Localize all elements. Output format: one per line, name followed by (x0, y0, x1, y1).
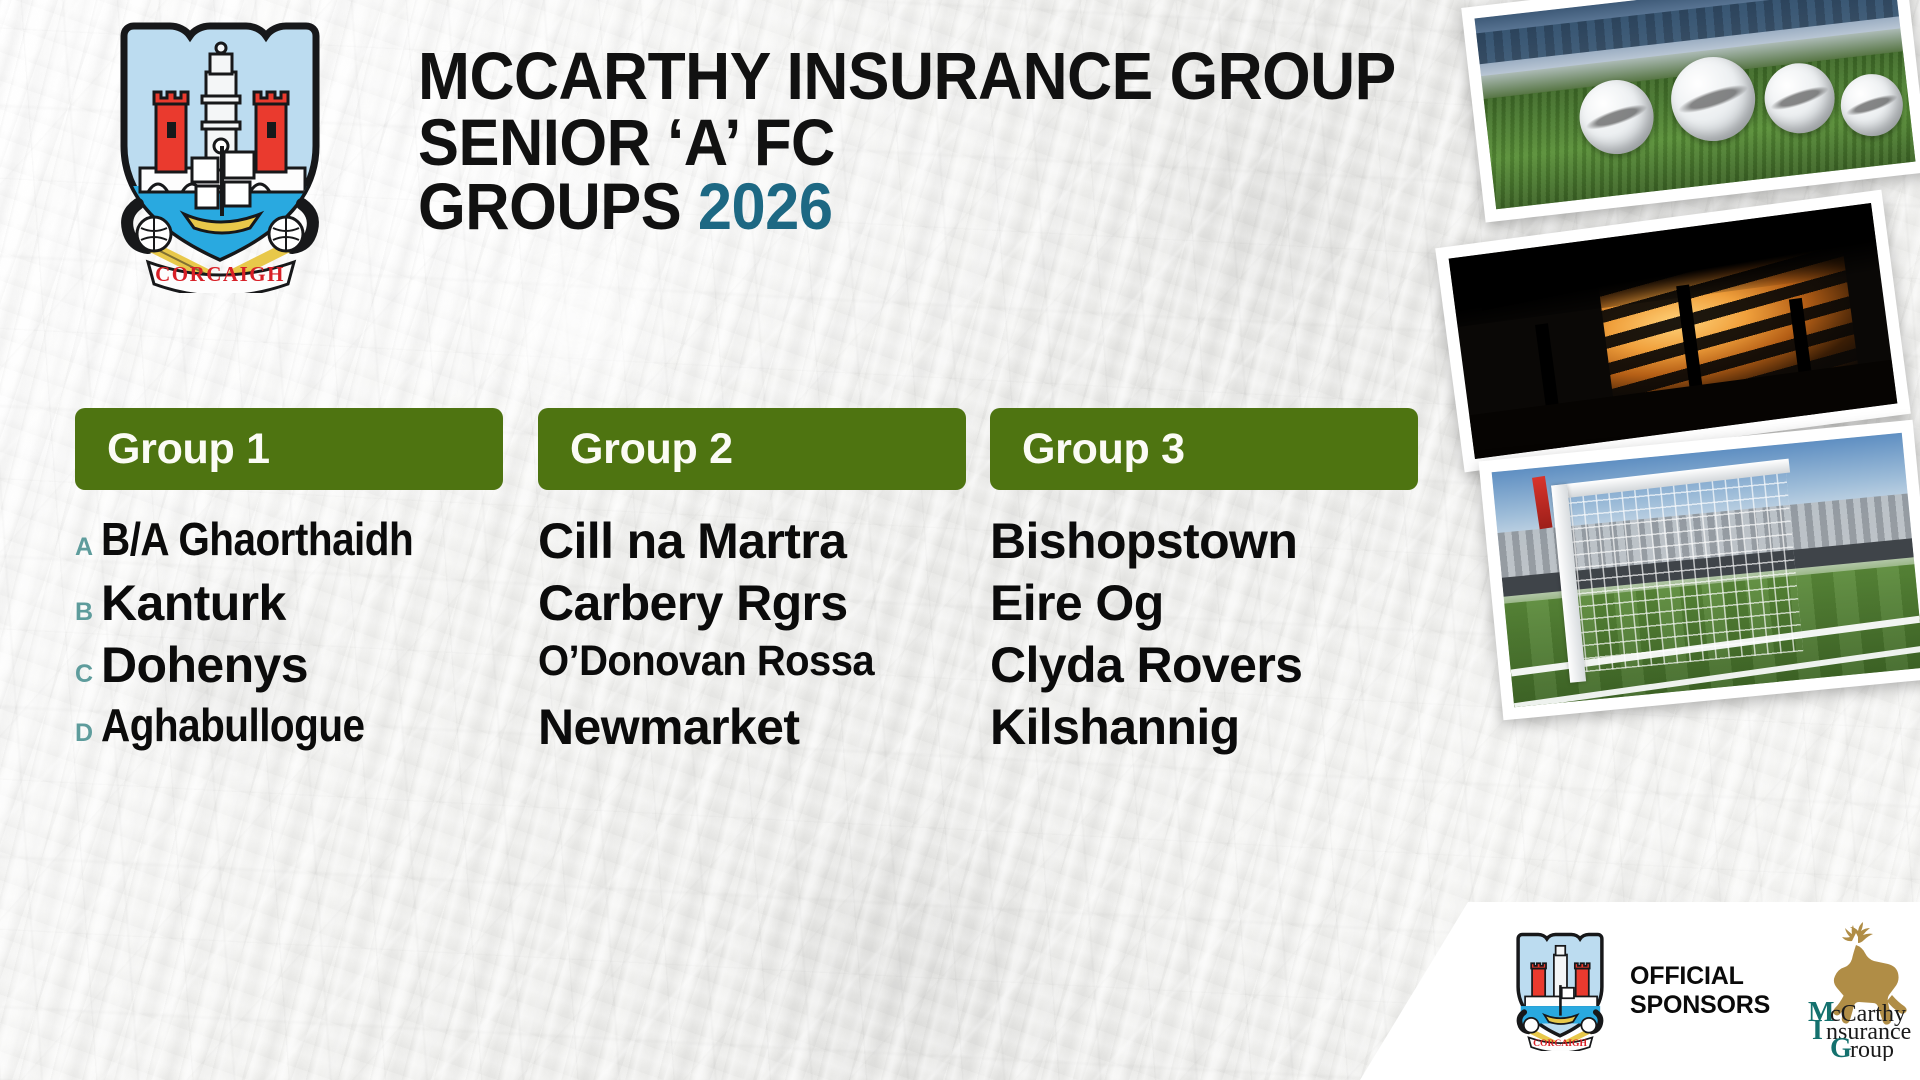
group-2-label: Group 2 (538, 425, 733, 474)
gaelic-footballs-on-pitch-photo (1461, 0, 1920, 223)
crest-banner-text: CORCAIGH (155, 262, 285, 286)
group-column-1: Group 1 A B/A Ghaorthaidh B Kanturk C Do… (75, 408, 505, 764)
cork-gaa-crest: CORCAIGH (110, 18, 330, 293)
group-2-header-bar: Group 2 (538, 408, 966, 490)
title-line-1: MCCARTHY INSURANCE GROUP (418, 44, 1404, 110)
team-row: D Aghabullogue (75, 702, 505, 764)
team-row: O’Donovan Rossa (538, 640, 968, 702)
mig-i-letter: I (1812, 1015, 1823, 1046)
team-row: B Kanturk (75, 578, 505, 640)
team-marker: A (75, 535, 101, 560)
group-1-header-bar: Group 1 (75, 408, 503, 490)
team-row: Eire Og (990, 578, 1420, 640)
team-row: Kilshannig (990, 702, 1420, 764)
official-sponsors-line-2: SPONSORS (1630, 991, 1770, 1020)
group-1-team-list: A B/A Ghaorthaidh B Kanturk C Dohenys D … (75, 516, 505, 764)
crest-banner-text-small: CORCAIGH (1533, 1038, 1587, 1049)
page-title: MCCARTHY INSURANCE GROUP SENIOR ‘A’ FC G… (418, 44, 1478, 239)
mccarthy-insurance-group-logo: M cCarthy I nsurance G roup (1800, 921, 1920, 1061)
team-name: Kilshannig (990, 702, 1240, 752)
team-name: Clyda Rovers (990, 640, 1302, 690)
goal-net-stadium-photo (1479, 420, 1920, 721)
team-name: Dohenys (101, 640, 308, 690)
group-3-label: Group 3 (990, 425, 1185, 474)
team-marker: C (75, 662, 101, 687)
group-3-header-bar: Group 3 (990, 408, 1418, 490)
team-row: Bishopstown (990, 516, 1420, 578)
team-name: Newmarket (538, 702, 799, 752)
team-marker: D (75, 721, 101, 746)
group-column-2: Group 2 Cill na Martra Carbery Rgrs O’Do… (538, 408, 968, 764)
team-row: Carbery Rgrs (538, 578, 968, 640)
team-name: O’Donovan Rossa (538, 640, 874, 683)
team-name: Kanturk (101, 578, 286, 628)
group-3-team-list: Bishopstown Eire Og Clyda Rovers Kilshan… (990, 516, 1420, 764)
team-marker: B (75, 600, 101, 625)
team-name: Bishopstown (990, 516, 1297, 566)
mig-g-letter: G (1830, 1033, 1852, 1061)
team-name: Aghabullogue (101, 702, 365, 748)
team-row: Newmarket (538, 702, 968, 764)
team-name: Eire Og (990, 578, 1164, 628)
official-sponsors-line-1: OFFICIAL (1630, 962, 1770, 991)
team-name: Carbery Rgrs (538, 578, 848, 628)
team-name: B/A Ghaorthaidh (101, 516, 413, 562)
team-row: A B/A Ghaorthaidh (75, 516, 505, 578)
official-sponsors-text: OFFICIAL SPONSORS (1630, 962, 1770, 1020)
team-row: C Dohenys (75, 640, 505, 702)
poster-canvas: CORCAIGH MCCARTHY INSURANCE GROUP SENIOR… (0, 0, 1920, 1080)
team-name: Cill na Martra (538, 516, 846, 566)
team-row: Clyda Rovers (990, 640, 1420, 702)
team-row: Cill na Martra (538, 516, 968, 578)
group-2-team-list: Cill na Martra Carbery Rgrs O’Donovan Ro… (538, 516, 968, 764)
group-column-3: Group 3 Bishopstown Eire Og Clyda Rovers… (990, 408, 1420, 764)
title-groups-word: GROUPS (418, 169, 698, 243)
group-1-label: Group 1 (75, 425, 270, 474)
cork-gaa-crest-small: CORCAIGH (1508, 931, 1612, 1051)
sponsor-panel: CORCAIGH OFFICIAL SPONSORS M cCarthy (1360, 902, 1920, 1080)
title-line-3: GROUPS 2026 (418, 174, 1404, 239)
title-year: 2026 (698, 169, 833, 243)
mig-group-rest: roup (1850, 1037, 1894, 1061)
title-line-2: SENIOR ‘A’ FC (418, 110, 1404, 175)
